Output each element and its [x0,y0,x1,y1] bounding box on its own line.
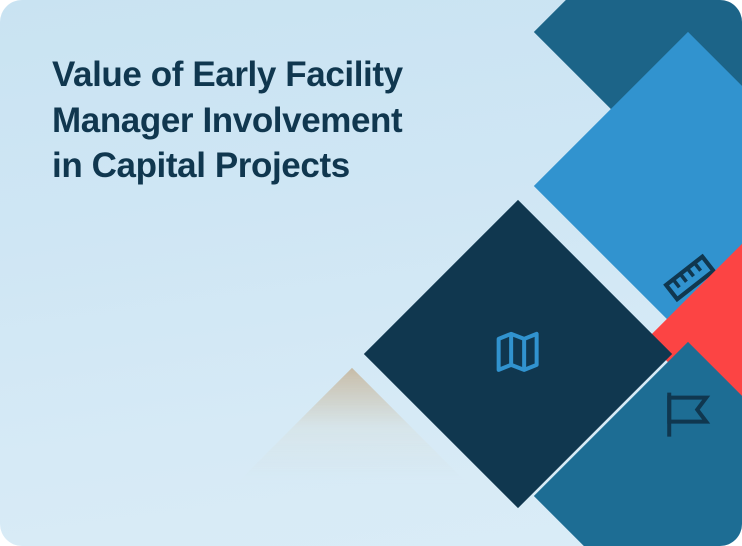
flag-icon [660,389,712,446]
map-icon [494,328,542,381]
promo-card: Value of Early Facility Manager Involvem… [0,0,742,546]
page-title: Value of Early Facility Manager Involvem… [52,52,482,189]
